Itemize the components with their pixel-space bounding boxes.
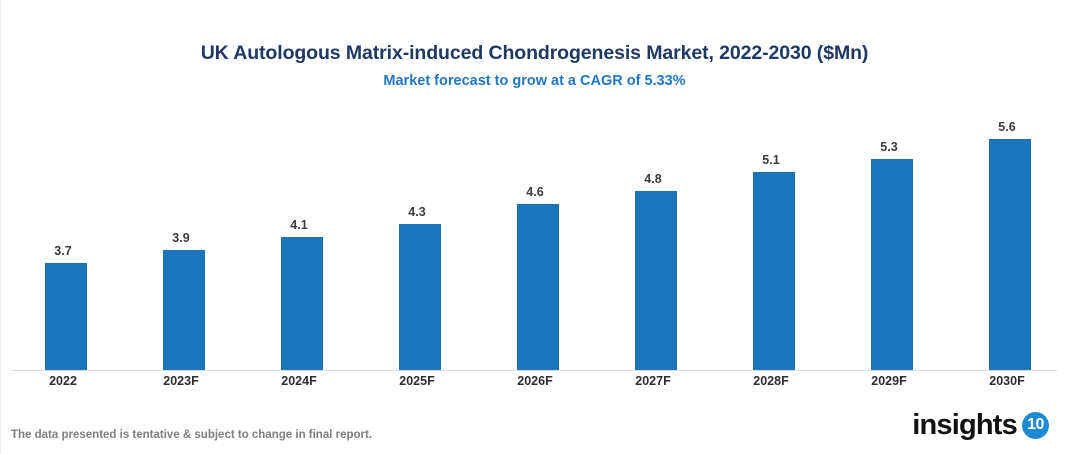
bar-slot: 4.8: [594, 110, 712, 370]
x-axis-tick-label: 2027F: [594, 374, 712, 388]
bar-slot: 4.1: [240, 110, 358, 370]
x-axis-tick-label: 2023F: [122, 374, 240, 388]
chart-page: UK Autologous Matrix-induced Chondrogene…: [0, 0, 1067, 454]
bar-value-label: 3.9: [122, 231, 240, 245]
bar-slot: 3.7: [4, 110, 122, 370]
x-axis-tick-label: 2029F: [830, 374, 948, 388]
x-axis-tick-label: 2026F: [476, 374, 594, 388]
bar[interactable]: [163, 250, 205, 370]
bar[interactable]: [281, 237, 323, 370]
bar-value-label: 4.1: [240, 218, 358, 232]
x-axis-tick-label: 2028F: [712, 374, 830, 388]
bar-value-label: 5.1: [712, 153, 830, 167]
x-axis-tick-label: 2030F: [948, 374, 1066, 388]
bar-slot: 4.6: [476, 110, 594, 370]
insights10-logo: insights 10: [912, 408, 1049, 442]
chart-title: UK Autologous Matrix-induced Chondrogene…: [1, 40, 1067, 66]
bar-slot: 5.6: [948, 110, 1066, 370]
x-axis-tick-label: 2025F: [358, 374, 476, 388]
bar[interactable]: [753, 172, 795, 370]
x-axis-tick-label: 2024F: [240, 374, 358, 388]
disclaimer-text: The data presented is tentative & subjec…: [11, 429, 372, 441]
bar[interactable]: [517, 204, 559, 370]
title-block: UK Autologous Matrix-induced Chondrogene…: [1, 40, 1067, 92]
bar[interactable]: [399, 224, 441, 370]
bar-value-label: 4.8: [594, 172, 712, 186]
bar[interactable]: [45, 263, 87, 370]
bar-slot: 5.1: [712, 110, 830, 370]
logo-wordmark: insights: [912, 410, 1017, 440]
bar[interactable]: [989, 139, 1031, 370]
bar-value-label: 4.6: [476, 185, 594, 199]
bar-series: 3.73.94.14.34.64.85.15.35.6: [1, 110, 1067, 370]
x-axis-line: [11, 370, 1057, 371]
x-axis-tick-label: 2022: [4, 374, 122, 388]
bar-value-label: 4.3: [358, 205, 476, 219]
bar[interactable]: [635, 191, 677, 370]
plot-area: 3.73.94.14.34.64.85.15.35.6: [1, 110, 1067, 372]
bar-slot: 4.3: [358, 110, 476, 370]
x-axis-categories: 20222023F2024F2025F2026F2027F2028F2029F2…: [1, 374, 1067, 396]
bar-value-label: 5.6: [948, 120, 1066, 134]
logo-badge-icon: 10: [1022, 412, 1049, 439]
bar[interactable]: [871, 159, 913, 370]
bar-value-label: 3.7: [4, 244, 122, 258]
bar-slot: 5.3: [830, 110, 948, 370]
chart-subtitle: Market forecast to grow at a CAGR of 5.3…: [1, 66, 1067, 92]
bar-slot: 3.9: [122, 110, 240, 370]
bar-value-label: 5.3: [830, 140, 948, 154]
